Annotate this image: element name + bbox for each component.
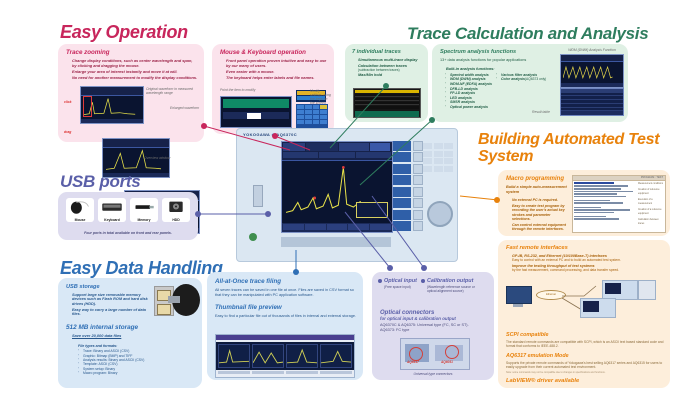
callout-dot-green [429,117,435,123]
emulation-title: AQ6317 emulation Mode [506,353,664,359]
list-item: Easy way to carry a large number of data… [66,308,152,317]
analysis-functions-col1: Spectral width analysis WDM (DWM) analys… [445,73,492,109]
rack-unit [638,280,656,300]
overview-inset [356,202,388,218]
list-item: Change display conditions, such as cente… [66,59,198,68]
optical-connectors-subtitle: for optical input & calibration output [380,316,488,321]
list-item: Improve the testing throughput of test s… [506,264,664,272]
mouse-keyboard-panel: Mouse & Keyboard operation Front panel o… [212,44,334,134]
seven-traces-title: 7 individual traces [352,49,424,55]
instrument-photo: YOKOGAWA ◆ AQ6370C [236,128,458,262]
enlarged-waveform-caption: Enlarged waveform [170,106,202,110]
macro-programming-panel: Macro programming Build a simple auto-me… [498,170,670,236]
scpi-body: The standard remote commands are compati… [506,340,664,348]
color-analysis-note: (AQ6373 only) [525,77,546,81]
instrument-model: AQ6370C [276,132,297,137]
usb-item-label: Mouse [66,218,94,222]
callout-dot-purple [265,211,271,217]
drag-label: drag [64,130,71,134]
bezel-key-column[interactable] [413,141,423,231]
power-led [249,233,257,241]
optical-input-dot [378,279,382,283]
usb-ports-panel: Mouse Keyboard Memory HDD [58,192,198,240]
callout-dot-orange [494,197,500,203]
connector-tag-2: AQ6051 [441,360,453,364]
list-item: No external PC is required. [506,198,568,202]
automated-test-title: Building Automated Test System [478,132,668,166]
instrument-brand: YOKOGAWA [243,132,270,137]
list-item: Can control external equipment through t… [506,223,568,231]
optical-input-title: Optical input [384,278,417,284]
list-item: Macro program: Binary [78,371,196,375]
list-item: Even easier with a mouse. [220,70,329,75]
usb-stick-photo [172,284,200,316]
list-item: GP-IB, RS-232, and Ethernet (10/100Base-… [506,254,664,262]
spectrum-lead: 13+ data analysis functions for popular … [440,58,560,63]
labview-title: LabVIEW® driver available [506,378,664,384]
easy-data-handling-title: Easy Data Handling [60,258,223,279]
macro-title: Macro programming [506,176,568,182]
analyzer-unit [602,280,638,300]
rotary-knob[interactable] [427,201,453,227]
calibration-output-title: Calibration output [427,278,479,284]
scpi-title: SCPI compatible [506,332,664,338]
optical-panel: Optical input (Free space input) Calibra… [372,272,494,380]
code-annotation: Calculation between traces [638,219,664,226]
seven-traces-bullets: Simultaneous multi-trace display Calcula… [352,58,424,77]
remote-title: Fast remote interfaces [506,245,664,251]
callout-dot-purple [195,211,201,217]
callout-dot-pink [201,123,207,129]
trace-list-screen [353,88,421,118]
mouse-keyboard-bullets: Front panel operation proven intuitive a… [220,59,329,80]
macro-code-window: PROGRAM : TEST Measurement condit [572,175,666,233]
original-waveform-caption: Original waveform in measured wavelength… [146,87,198,95]
keyboard-icon [98,198,126,215]
remote-body: by the fast measurement, command process… [512,268,664,272]
remote-interfaces-panel: Fast remote interfaces GP-IB, RS-232, an… [498,240,670,388]
internal-storage-title: 512 MB internal storage [66,324,196,331]
builtin-analysis-label: Built-in analysis functions: [440,67,560,71]
code-annotation: Creation of reference equipment [638,189,664,196]
instrument-display [281,141,393,233]
optical-connectors-body2: AQ6373: FC type [380,328,488,333]
all-at-once-body: All seven traces can be saved in one fil… [215,288,357,298]
usb-item-label: Memory [130,218,158,222]
code-annotation: Measurement conditions [638,183,664,186]
front-keypad[interactable] [423,143,453,172]
easy-operation-title: Easy Operation [60,22,188,43]
thumbnail-browser-screen [215,334,355,378]
macro-code-title: PROGRAM : TEST [641,176,663,179]
thumbnail-item[interactable] [218,344,250,368]
usb-item-hdd: HDD [162,198,190,222]
trace-zooming-bullets: Change display conditions, such as cente… [66,59,198,80]
thumbnail-body: Easy to find a particular file out of th… [215,314,357,319]
list-item: Optical power analysis [445,105,492,110]
overview-window-caption: Overview window [144,156,170,160]
emulation-body: Supports the private remote commands of … [506,361,664,369]
wdm-analysis-screen [560,54,624,88]
thumbnail-item[interactable] [252,344,284,368]
point-item-caption: Point the item to modify [220,88,255,92]
usb-item-label: HDD [162,218,190,222]
click-label: click [64,100,72,104]
hdd-icon [162,198,190,215]
connector-tag-1: AQ6447 [407,360,419,364]
calibration-output-dot [421,279,425,283]
callout-dot-blue [293,269,299,275]
analysis-functions-col2: Various filter analysis Color analysis(A… [496,73,546,109]
usb-item-mouse: Mouse [66,198,94,222]
file-types-list: Trace: Binary and ASCII (CSV) Graphic: B… [78,349,196,376]
analyzer-unit [580,298,616,318]
list-item: Simultaneous multi-trace display [352,58,424,62]
remote-bullets: GP-IB, RS-232, and Ethernet (10/100Base-… [506,254,664,272]
list-item: Color analysis(AQ6373 only) [496,77,546,82]
list-item: Calculation between traces (subtraction … [352,64,424,73]
trace-calculation-title: Trace Calculation and Analysis [407,24,648,44]
spectrum-analysis-panel: Spectrum analysis functions 13+ data ana… [432,44,628,122]
onscreen-keypad[interactable] [296,104,328,130]
soft-key-column[interactable] [393,141,411,231]
wdm-analysis-caption: WDM (DWM) Analysis Function [560,48,624,52]
brochure-page: Easy Operation Trace zooming Change disp… [0,0,680,417]
usb-item-memory: Memory [130,198,158,222]
usb-item-label: Keyboard [98,218,126,222]
usb-memory-icon [130,198,158,215]
code-annotation: Execution of a measurement [638,199,664,206]
callout-dot-purple [387,265,393,271]
usb-storage-panel: USB storage Support large size removable… [58,278,202,388]
result-table-screen [560,88,624,116]
list-item: Support large size removable memory devi… [66,293,152,306]
usb-ports-title: USB ports [60,172,140,192]
calibration-output-note: (Wavelength reference source or optical … [427,285,479,293]
settings-screen-mock [220,96,292,128]
pc-monitor-icon [506,286,530,306]
usb-storage-title: USB storage [66,284,152,290]
list-item: The keyboard helps enter labels and file… [220,76,329,81]
macro-lead: Build a simple auto-measurement system [506,185,568,194]
code-annotation: Creation of a reference equipment [638,209,664,216]
spectrum-analysis-title: Spectrum analysis functions [440,49,560,55]
usb-storage-bullets: Support large size removable memory devi… [66,293,152,317]
waveform-screen-original [80,86,144,124]
mouse-keyboard-title: Mouse & Keyboard operation [220,49,329,56]
callout-dot-pink [272,133,278,139]
all-at-once-title: All-at-Once trace filing [215,278,357,285]
list-item: No need for another measurement to modif… [66,76,198,81]
connectors-photo: AQ6447 AQ6051 [400,338,470,370]
mouse-icon [66,198,94,215]
list-item: Enlarge your area of interest instantly … [66,70,198,75]
callout-dot-green [383,83,389,89]
remote-body: Easy to control with an external PC and … [512,258,664,262]
thumbnail-item[interactable] [320,344,352,368]
emulation-note: Note: some commands may not be compatibl… [506,371,664,374]
callout-dot-purple [421,265,427,271]
thumbnail-item[interactable] [286,344,318,368]
macro-bullets: No external PC is required. Easy to crea… [506,198,568,231]
trace-zooming-panel: Trace zooming Change display conditions,… [58,44,204,142]
remote-diagram: Ethernet [506,280,662,328]
result-table-caption: Result table [532,110,550,114]
list-item: Front panel operation proven intuitive a… [220,59,329,68]
optical-input-note: (Free space input) [384,285,417,289]
trace-zooming-title: Trace zooming [66,49,198,56]
list-item: Max/Min hold [352,73,424,77]
trace-filing-panel: All-at-Once trace filing All seven trace… [207,272,363,380]
list-item: Easy to create test program by recording… [506,204,568,221]
usb-port-front[interactable] [253,185,263,207]
connectors-caption: Universal type connectors [372,372,494,376]
usb-item-keyboard: Keyboard [98,198,126,222]
internal-storage-bullet: Save over 20,000 data files [66,334,196,339]
instrument-base [281,237,391,247]
usb-ports-note: Four ports in total available on front a… [58,231,198,235]
thumbnail-title: Thumbnail file preview [215,304,357,311]
file-types-label: File types and formats: [78,344,196,348]
